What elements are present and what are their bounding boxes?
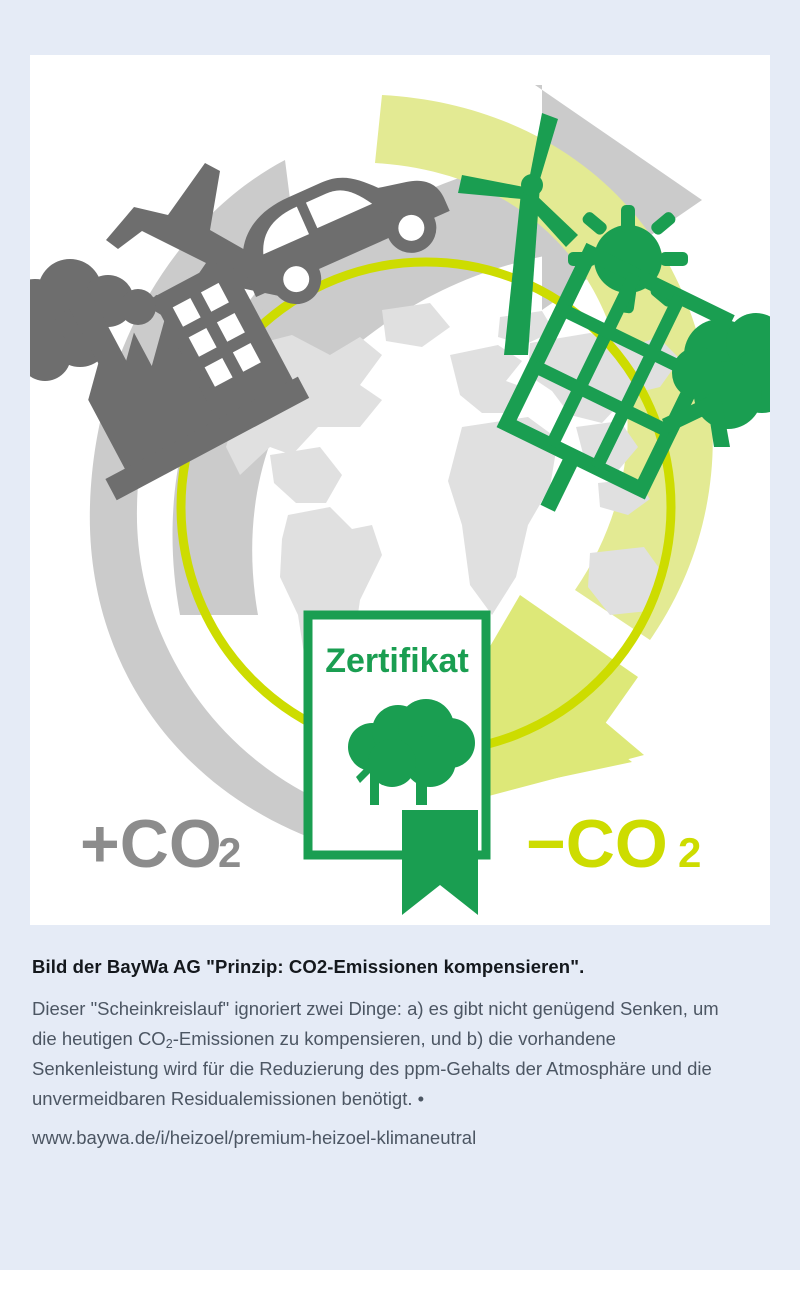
co2-compensation-illustration: Zertifikat [30,55,770,925]
svg-text:2: 2 [218,829,241,876]
certificate-card: Zertifikat [308,615,486,915]
caption-block: Bild der BayWa AG "Prinzip: CO2-Emission… [32,955,752,1152]
svg-text:+CO: +CO [80,806,222,882]
illustration-card: Zertifikat [30,55,770,925]
certificate-ribbon-icon [402,810,478,915]
minus-co2-label: −CO 2 [526,806,701,882]
plus-co2-label: +CO 2 [80,806,241,882]
page-root: Zertifikat [0,0,800,1300]
caption-co2-subscript: 2 [166,1037,173,1051]
svg-text:−CO: −CO [526,806,668,882]
svg-text:2: 2 [678,829,701,876]
caption-body: Dieser "Scheinkreislauf" ignoriert zwei … [32,994,722,1114]
certificate-label: Zertifikat [325,642,469,680]
caption-title: Bild der BayWa AG "Prinzip: CO2-Emission… [32,955,752,980]
caption-source-url[interactable]: www.baywa.de/i/heizoel/premium-heizoel-k… [32,1124,752,1152]
